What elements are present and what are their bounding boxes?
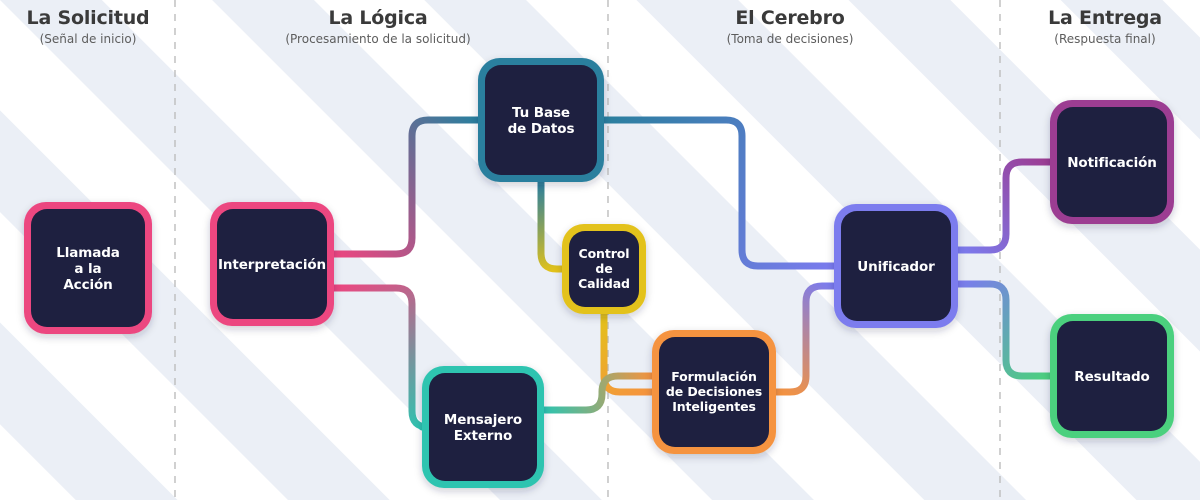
lane-header-3: La Entrega(Respuesta final): [1048, 7, 1162, 46]
lane-subtitle: (Procesamiento de la solicitud): [285, 32, 470, 46]
node-base-datos[interactable]: Tu Basede Datos: [478, 58, 604, 182]
node-label-line: Unificador: [857, 259, 935, 275]
node-unificador[interactable]: Unificador: [834, 204, 958, 328]
lane-subtitle: (Señal de inicio): [40, 32, 137, 46]
node-label-line: Notificación: [1067, 155, 1157, 171]
node-label-line: Inteligentes: [672, 399, 756, 414]
lane-title: La Lógica: [328, 7, 427, 29]
lane-header-2: El Cerebro(Toma de decisiones): [727, 7, 854, 46]
node-label-line: Resultado: [1074, 369, 1149, 385]
node-label-line: Mensajero: [444, 412, 522, 428]
architecture-flow-diagram: La Solicitud(Señal de inicio)La Lógica(P…: [0, 0, 1200, 500]
lane-header-0: La Solicitud(Señal de inicio): [27, 7, 150, 46]
node-label-line: Llamada: [56, 245, 120, 261]
lane-title: El Cerebro: [735, 7, 844, 29]
node-label-line: de Decisiones: [666, 384, 762, 399]
node-notificacion[interactable]: Notificación: [1050, 100, 1174, 224]
node-resultado[interactable]: Resultado: [1050, 314, 1174, 438]
node-label-line: Interpretación: [218, 257, 326, 273]
node-label-line: a la: [74, 261, 101, 277]
node-label-line: Control: [579, 246, 630, 261]
lane-subtitle: (Respuesta final): [1054, 32, 1155, 46]
node-label-line: Tu Base: [512, 105, 570, 121]
lane-subtitle: (Toma de decisiones): [727, 32, 854, 46]
node-label-line: Calidad: [578, 276, 630, 291]
node-mensajero[interactable]: MensajeroExterno: [422, 366, 544, 488]
node-label-line: Formulación: [671, 369, 757, 384]
node-llamada[interactable]: Llamadaa laAcción: [24, 202, 152, 334]
lane-title: La Entrega: [1048, 7, 1162, 29]
node-label-line: Externo: [454, 428, 512, 444]
lane-title: La Solicitud: [27, 7, 150, 29]
node-control[interactable]: ControldeCalidad: [562, 224, 646, 314]
flowchart-canvas: La Solicitud(Señal de inicio)La Lógica(P…: [0, 0, 1200, 500]
node-label-line: de: [595, 261, 612, 276]
node-label-line: Acción: [63, 277, 112, 293]
node-interpretacion[interactable]: Interpretación: [210, 202, 334, 326]
node-label-line: de Datos: [508, 121, 575, 137]
node-formulacion[interactable]: Formulaciónde DecisionesInteligentes: [652, 330, 776, 454]
